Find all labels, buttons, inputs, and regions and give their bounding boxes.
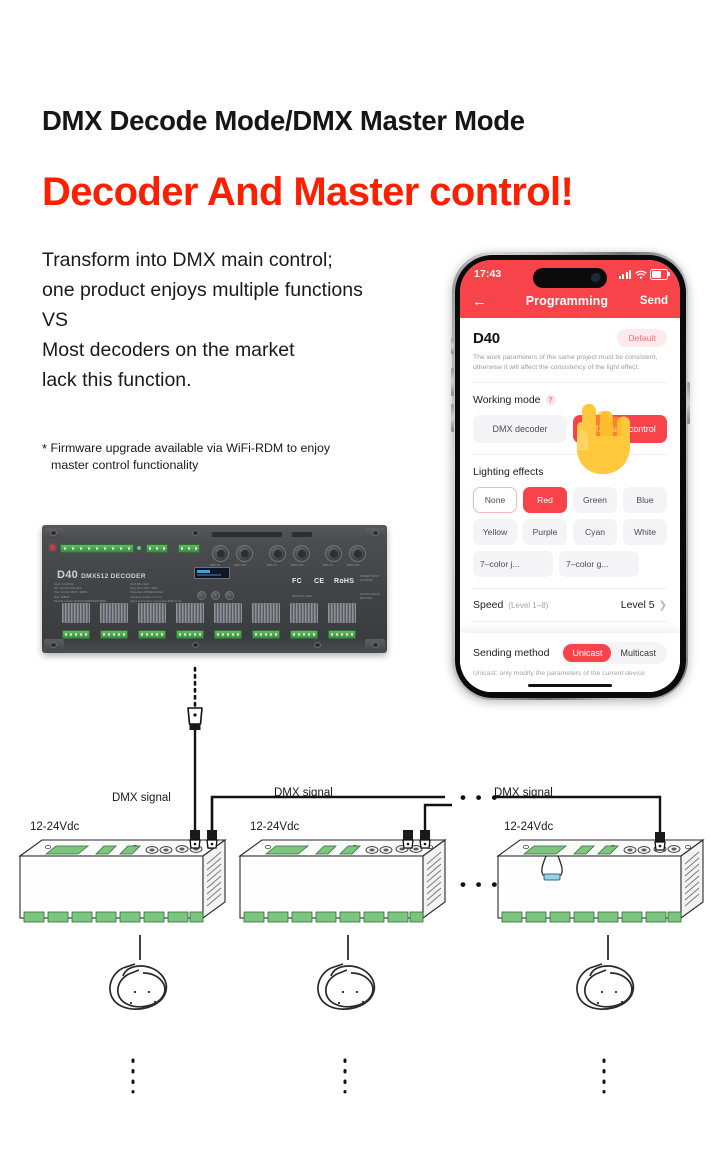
effect-7color-gradient[interactable]: 7–color g... [559, 551, 639, 577]
heatsink-fin [252, 603, 280, 623]
footnote-line-2: master control functionality [42, 457, 442, 474]
speed-hint: (Level 1–8) [508, 601, 548, 610]
dmx-terminal-block [146, 544, 168, 553]
channel-output-terminal [290, 630, 318, 639]
screw-hole [372, 530, 379, 536]
heatsink-fin [138, 603, 166, 623]
heatsink-fin [100, 603, 128, 623]
symbol-marks: IP20 Blink Table [292, 595, 352, 599]
screen-title: Programming [494, 294, 640, 308]
power-button[interactable] [687, 382, 690, 424]
rating-label-2: OUTPUT 5A/CH MAX 20A [360, 593, 384, 601]
status-bar-time: 17:43 [474, 268, 501, 280]
lighting-effects-text: Lighting effects [473, 466, 543, 478]
decoder-units-drawing [0, 660, 720, 1100]
oled-display [194, 567, 230, 579]
wifi-icon [635, 270, 647, 279]
speed-row[interactable]: Speed (Level 1–8) Level 5 ❯ [473, 589, 667, 611]
port-label-dmx-out: DMX OUT [234, 564, 247, 568]
speed-label: Speed (Level 1–8) [473, 599, 548, 611]
body-copy: Transform into DMX main control; one pro… [42, 245, 442, 395]
top-slot [212, 532, 282, 537]
device-header: D40 Default [473, 318, 667, 347]
send-button[interactable]: Send [640, 295, 668, 307]
phone-mockup: 17:43 ← Programming Send [452, 252, 688, 700]
menu-button[interactable] [197, 591, 206, 600]
port-label-dmx-in: DMX IN [267, 564, 277, 568]
pointing-hand-icon [560, 384, 638, 476]
effect-white[interactable]: White [623, 519, 667, 545]
port-label-dmx-in: DMX IN [323, 564, 333, 568]
divider [473, 382, 667, 383]
battery-icon [650, 269, 668, 280]
output-terminal-block [60, 544, 134, 553]
speed-value: Level 5 [621, 599, 655, 611]
heatsink-fin [290, 603, 318, 623]
screw-hole [50, 642, 57, 648]
front-camera-icon [591, 273, 602, 284]
effects-row-1: None Red Green Blue [473, 487, 667, 513]
channel-output-terminal [214, 630, 242, 639]
down-button[interactable] [225, 591, 234, 600]
dynamic-island [533, 268, 607, 288]
body-line-4: Most decoders on the market [42, 335, 442, 365]
product-model: D40 [57, 569, 78, 581]
sending-multicast[interactable]: Multicast [611, 644, 665, 662]
body-line-5: lack this function. [42, 365, 442, 395]
working-mode-text: Working mode [473, 394, 541, 406]
screw-hole [314, 642, 321, 648]
question-mark-icon[interactable]: ? [546, 395, 556, 405]
channel-output-terminal [252, 630, 280, 639]
effect-7color-jump[interactable]: 7–color j... [473, 551, 553, 577]
back-arrow-icon[interactable]: ← [472, 294, 494, 309]
device-name: D40 [473, 330, 500, 347]
effects-row-2: Yellow Purple Cyan White [473, 519, 667, 545]
status-bar-icons [619, 269, 668, 280]
fcc-mark-icon: FC [292, 578, 302, 585]
effect-red[interactable]: Red [523, 487, 567, 513]
effect-none[interactable]: None [473, 487, 517, 513]
product-photo-d40: DMX IN DMX OUT DMX IN DMX OUT DMX IN DMX… [42, 525, 387, 653]
body-line-3: VS [42, 305, 442, 335]
screw-hole [50, 530, 57, 536]
xlr-port-dmx-in [269, 545, 286, 562]
footnote-line-1: Firmware upgrade available via WiFi-RDM … [51, 441, 331, 455]
top-slot [292, 532, 312, 537]
sending-method-label: Sending method [473, 647, 549, 659]
channel-output-terminal [138, 630, 166, 639]
nav-row: ← Programming Send [460, 288, 680, 314]
rohs-mark-icon: RoHS [334, 578, 354, 585]
ce-mark-icon: CE [314, 578, 324, 585]
body-line-1: Transform into DMX main control; [42, 245, 442, 275]
xlr-port-dmx-out [349, 545, 366, 562]
speed-value-group: Level 5 ❯ [621, 599, 667, 611]
status-led-indicator [137, 546, 141, 550]
settings-sheet: D40 Default The work parameters of the s… [460, 318, 680, 692]
body-line-2: one product enjoys multiple functions [42, 275, 442, 305]
product-model-label: D40DMX512 DECODER [54, 569, 146, 581]
product-subtitle: DMX512 DECODER [81, 573, 146, 580]
marketing-page: DMX Decode Mode/DMX Master Mode Decoder … [0, 0, 720, 1157]
device-note: The work parameters of the same project … [473, 353, 667, 373]
channel-output-terminal [62, 630, 90, 639]
dmx-terminal-block [178, 544, 200, 553]
mute-switch-button[interactable] [451, 338, 454, 354]
rating-label-1: POWER INPUT 12-24VDC [360, 575, 384, 583]
heatsink-fin [214, 603, 242, 623]
channel-output-terminal [100, 630, 128, 639]
option-dmx-decoder[interactable]: DMX decoder [473, 415, 567, 443]
effect-cyan[interactable]: Cyan [573, 519, 617, 545]
screw-hole [192, 530, 199, 536]
page-subtitle: Decoder And Master control! [42, 170, 573, 215]
up-button[interactable] [211, 591, 220, 600]
page-title: DMX Decode Mode/DMX Master Mode [42, 105, 525, 137]
channel-output-terminal [176, 630, 204, 639]
xlr-port-dmx-in [212, 545, 229, 562]
volume-up-button[interactable] [451, 368, 454, 396]
heatsink-fin [328, 603, 356, 623]
xlr-port-dmx-in [325, 545, 342, 562]
port-label-dmx-out: DMX OUT [347, 564, 360, 568]
port-label-dmx-out: DMX OUT [291, 564, 304, 568]
app-header: 17:43 ← Programming Send [460, 260, 680, 318]
cellular-signal-icon [619, 270, 631, 279]
default-badge[interactable]: Default [617, 329, 667, 347]
spec-block-right: IN: RJ45 / GFE Grey level: 8bit / 16bit … [130, 583, 196, 604]
asterisk-icon: * [42, 441, 47, 456]
heatsink-fin [176, 603, 204, 623]
sending-unicast[interactable]: Unicast [563, 644, 611, 662]
effect-green[interactable]: Green [573, 487, 617, 513]
volume-down-button[interactable] [451, 404, 454, 432]
phone-screen: 17:43 ← Programming Send [460, 260, 680, 692]
channel-output-terminal [328, 630, 356, 639]
chevron-right-icon[interactable]: ❯ [659, 600, 667, 611]
spec-block-left: Input: 12-24Vdc Out: 5A/4CH Max:20A Pwr:… [54, 583, 124, 604]
heatsink-fin [62, 603, 90, 623]
effects-row-3: 7–color j... 7–color g... [473, 551, 667, 577]
screw-hole [372, 642, 379, 648]
effect-yellow[interactable]: Yellow [473, 519, 517, 545]
effect-purple[interactable]: Purple [523, 519, 567, 545]
xlr-port-dmx-out [236, 545, 253, 562]
effect-blue[interactable]: Blue [623, 487, 667, 513]
speed-text: Speed [473, 599, 503, 611]
screw-hole [192, 642, 199, 648]
footnote: * Firmware upgrade available via WiFi-RD… [42, 440, 442, 474]
power-led-indicator [50, 545, 55, 550]
wiring-diagram: DMX signal DMX signal DMX signal 12-24Vd… [0, 660, 720, 1100]
xlr-port-dmx-out [293, 545, 310, 562]
